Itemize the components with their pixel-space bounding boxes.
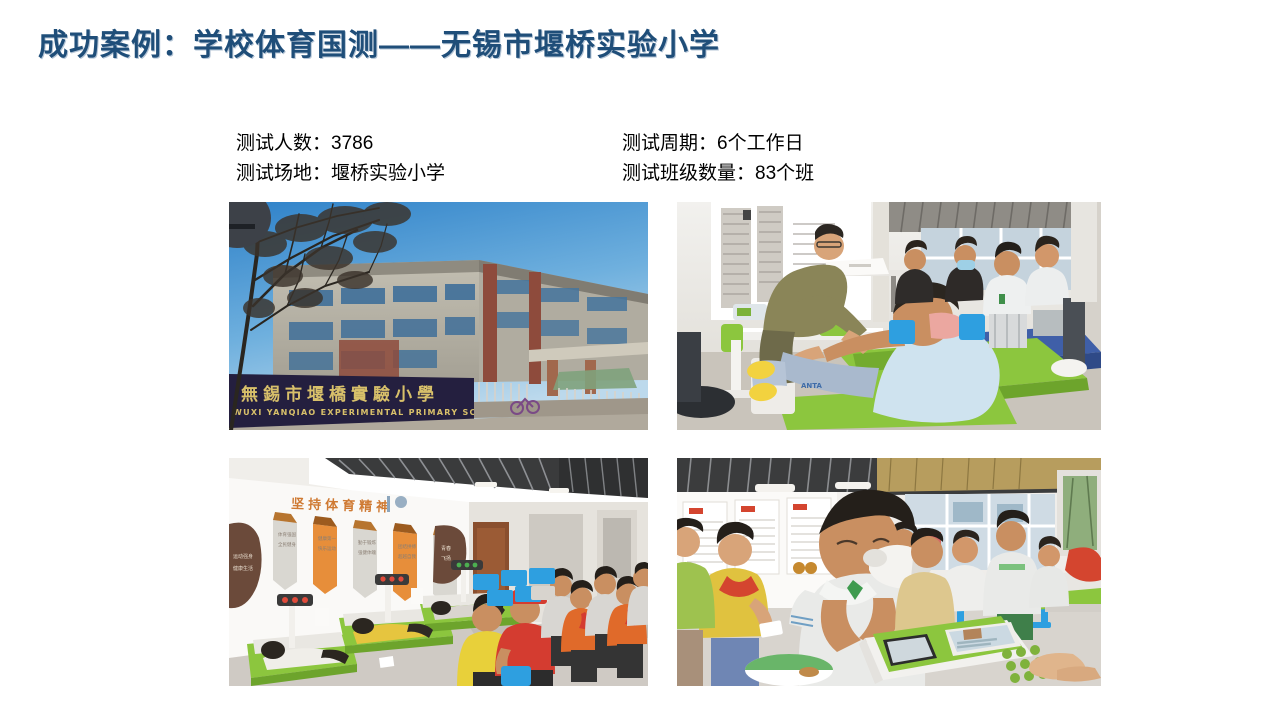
svg-text:無錫市堰橋實驗小學: 無錫市堰橋實驗小學: [241, 384, 439, 405]
sit-up-test-photo: 坚持体育精神 体育强国全民健身 健康第一快乐运动 勤于锻炼强健体魄 团结: [229, 458, 648, 686]
info-venue: 测试场地：堰桥实验小学: [236, 158, 622, 185]
svg-text:ANTA: ANTA: [801, 382, 823, 390]
info-duration-label: 测试周期：: [622, 133, 717, 154]
info-row: 测试场地：堰桥实验小学 测试班级数量：83个班: [236, 156, 1096, 186]
info-duration-value: 6个工作日: [717, 133, 804, 154]
svg-text:勤于锻炼: 勤于锻炼: [358, 539, 376, 546]
sit-and-reach-test-photo: ANTA: [677, 202, 1101, 430]
lung-capacity-test-photo: [677, 458, 1101, 686]
svg-text:超越自我: 超越自我: [398, 553, 416, 560]
svg-text:团结拼搏: 团结拼搏: [398, 543, 416, 550]
test-summary-info: 测试人数：3786 测试周期：6个工作日 测试场地：堰桥实验小学 测试班级数量：…: [236, 126, 1096, 186]
info-class-count-value: 83个班: [755, 163, 814, 184]
svg-text:强健体魄: 强健体魄: [358, 549, 376, 556]
svg-text:快乐运动: 快乐运动: [318, 545, 336, 552]
info-venue-label: 测试场地：: [236, 163, 331, 184]
svg-text:健康第一: 健康第一: [318, 535, 336, 542]
info-participants-value: 3786: [331, 133, 373, 154]
info-participants: 测试人数：3786: [236, 128, 622, 155]
photo-gallery: 無錫市堰橋實驗小學 WUXI YANQIAO EXPERIMENTAL PRIM…: [229, 202, 1101, 686]
svg-text:青春: 青春: [441, 545, 451, 552]
svg-text:WUXI YANQIAO EXPERIMENTAL PRIM: WUXI YANQIAO EXPERIMENTAL PRIMARY SCHOOL: [233, 408, 507, 417]
svg-text:飞扬: 飞扬: [441, 555, 451, 562]
info-row: 测试人数：3786 测试周期：6个工作日: [236, 126, 1096, 156]
info-class-count: 测试班级数量：83个班: [622, 158, 1042, 185]
svg-text:健康生活: 健康生活: [233, 565, 253, 572]
info-class-count-label: 测试班级数量：: [622, 163, 755, 184]
info-duration: 测试周期：6个工作日: [622, 128, 1042, 155]
info-venue-value: 堰桥实验小学: [331, 163, 445, 184]
school-building-photo: 無錫市堰橋實驗小學 WUXI YANQIAO EXPERIMENTAL PRIM…: [229, 202, 648, 430]
info-participants-label: 测试人数：: [236, 133, 331, 154]
page-title: 成功案例：学校体育国测——无锡市堰桥实验小学: [38, 20, 720, 64]
svg-text:运动强身: 运动强身: [233, 553, 253, 560]
svg-text:全民健身: 全民健身: [278, 541, 296, 548]
svg-text:体育强国: 体育强国: [278, 531, 296, 538]
